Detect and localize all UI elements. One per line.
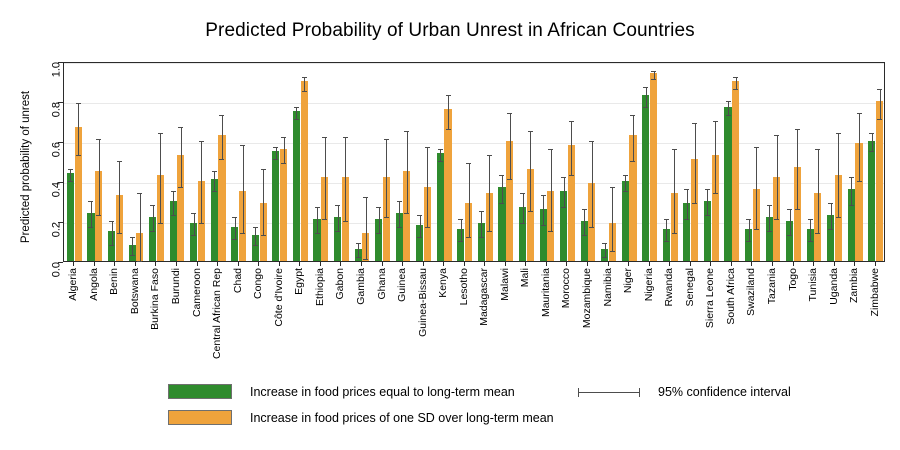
error-bar-cap-bottom	[836, 217, 841, 218]
error-bar-cap-bottom	[746, 241, 751, 242]
error-bar	[276, 147, 277, 159]
error-bar	[715, 121, 716, 193]
error-bar-cap-top	[774, 135, 779, 136]
error-bar-cap-bottom	[520, 223, 525, 224]
error-bar	[325, 137, 326, 219]
error-bar-cap-top	[191, 213, 196, 214]
error-bar-cap-bottom	[795, 209, 800, 210]
bar	[444, 109, 451, 261]
error-bar-cap-top	[88, 201, 93, 202]
gridline	[64, 103, 884, 104]
x-axis-tick	[772, 262, 773, 266]
bar-group	[252, 63, 267, 261]
error-bar	[831, 203, 832, 229]
x-axis-tick	[813, 262, 814, 266]
error-bar	[461, 219, 462, 241]
x-axis-tick	[525, 262, 526, 266]
bar-group	[170, 63, 185, 261]
error-bar-cap-top	[528, 131, 533, 132]
legend-label-ci: 95% confidence interval	[658, 385, 791, 399]
chart-figure: Predicted Probability of Urban Unrest in…	[0, 0, 900, 450]
error-bar	[181, 127, 182, 187]
gridline	[64, 183, 884, 184]
error-bar-cap-bottom	[726, 115, 731, 116]
error-bar-cap-bottom	[356, 257, 361, 258]
error-bar-cap-bottom	[767, 231, 772, 232]
legend-label-series-0: Increase in food prices equal to long-te…	[250, 385, 515, 399]
x-axis-tick	[834, 262, 835, 266]
bar-group	[375, 63, 390, 261]
error-bar-cap-bottom	[808, 241, 813, 242]
error-bar-cap-top	[569, 121, 574, 122]
error-bar	[810, 219, 811, 241]
x-axis-labels: AlgeriaAngolaBeninBotswanaBurkina FasoBu…	[63, 268, 885, 368]
bar	[724, 107, 731, 261]
error-bar	[510, 113, 511, 179]
x-axis-tick	[176, 262, 177, 266]
error-bar-cap-bottom	[466, 237, 471, 238]
error-bar-cap-top	[199, 141, 204, 142]
bar-group	[786, 63, 801, 261]
x-axis-tick	[382, 262, 383, 266]
error-bar	[654, 71, 655, 79]
bar-group	[149, 63, 164, 261]
error-bar-cap-top	[479, 211, 484, 212]
error-bar-cap-top	[356, 243, 361, 244]
error-bar	[523, 193, 524, 223]
error-bar-cap-bottom	[774, 219, 779, 220]
x-axis-tick-label: Madagascar	[478, 268, 490, 326]
x-axis-tick	[546, 262, 547, 266]
error-bar-cap-bottom	[117, 233, 122, 234]
error-bar-cap-top	[520, 193, 525, 194]
x-axis-tick-label: Algeria	[67, 268, 79, 301]
error-bar-cap-top	[294, 107, 299, 108]
error-bar	[338, 205, 339, 231]
error-bar	[222, 115, 223, 159]
bar	[876, 101, 883, 261]
error-bar-cap-top	[589, 141, 594, 142]
error-bar	[132, 237, 133, 255]
error-bar	[571, 121, 572, 175]
error-bar-cap-bottom	[232, 239, 237, 240]
error-bar-cap-bottom	[76, 155, 81, 156]
error-bar	[646, 87, 647, 107]
error-bar-cap-top	[623, 175, 628, 176]
error-bar	[481, 211, 482, 237]
error-bar-cap-bottom	[815, 233, 820, 234]
y-axis-tick-label: 0.4	[50, 182, 62, 197]
x-axis-tick	[135, 262, 136, 266]
error-bar	[173, 191, 174, 215]
error-bar-cap-top	[446, 95, 451, 96]
bar	[280, 149, 287, 261]
legend-label-series-1: Increase in food prices of one SD over l…	[250, 411, 554, 425]
error-bar	[818, 149, 819, 233]
error-bar-cap-bottom	[651, 79, 656, 80]
error-bar-cap-top	[240, 145, 245, 146]
x-axis-tick	[402, 262, 403, 266]
x-axis-tick-label: Côte d'Ivoire	[273, 268, 285, 327]
error-bar-cap-bottom	[273, 159, 278, 160]
error-bar-cap-bottom	[130, 255, 135, 256]
error-bar-cap-bottom	[664, 241, 669, 242]
error-bar-cap-top	[602, 243, 607, 244]
error-bar-cap-bottom	[219, 159, 224, 160]
error-bar-cap-bottom	[692, 203, 697, 204]
error-bar	[160, 133, 161, 223]
error-bar-cap-bottom	[425, 227, 430, 228]
bar-group	[704, 63, 719, 261]
x-axis-tick-label: Mozambique	[581, 268, 593, 328]
x-axis-tick-label: South Africa	[725, 268, 737, 325]
bar	[650, 73, 657, 261]
y-axis: 0.00.20.40.60.81.0	[0, 62, 63, 262]
x-axis-tick-label: Lesotho	[458, 268, 470, 305]
error-bar	[243, 145, 244, 233]
error-bar	[695, 123, 696, 203]
gridline	[64, 223, 884, 224]
confidence-interval-icon	[578, 386, 640, 398]
x-axis-tick	[258, 262, 259, 266]
error-bar-cap-bottom	[877, 119, 882, 120]
error-bar	[140, 193, 141, 261]
error-bar-cap-bottom	[281, 163, 286, 164]
x-axis-tick-label: Senegal	[684, 268, 696, 307]
error-bar-cap-top	[561, 177, 566, 178]
gridline	[64, 143, 884, 144]
bar-group	[416, 63, 431, 261]
error-bar	[530, 131, 531, 211]
x-axis-tick	[155, 262, 156, 266]
legend-entry-ci: 95% confidence interval	[578, 385, 791, 399]
x-axis-tick-label: Burundi	[170, 268, 182, 304]
error-bar-cap-top	[253, 227, 258, 228]
error-bar	[777, 135, 778, 219]
error-bar-cap-top	[363, 197, 368, 198]
error-bar-cap-top	[397, 201, 402, 202]
x-axis-tick	[731, 262, 732, 266]
bar	[293, 111, 300, 261]
bar-group	[498, 63, 513, 261]
error-bar	[112, 221, 113, 245]
error-bar-cap-top	[651, 71, 656, 72]
error-bar-cap-bottom	[684, 219, 689, 220]
error-bar-cap-bottom	[630, 161, 635, 162]
x-axis-tick-label: Egypt	[293, 268, 305, 295]
error-bar	[584, 209, 585, 235]
error-bar-cap-bottom	[446, 129, 451, 130]
error-bar-cap-top	[726, 101, 731, 102]
x-axis-tick	[751, 262, 752, 266]
x-axis-tick-label: Burkina Faso	[149, 268, 161, 330]
error-bar-cap-bottom	[733, 89, 738, 90]
x-axis-tick-label: Kenya	[437, 268, 449, 298]
error-bar-cap-top	[302, 77, 307, 78]
x-axis-tick-label: Mali	[519, 268, 531, 287]
x-axis-tick	[464, 262, 465, 266]
bar-group	[272, 63, 287, 261]
error-bar	[427, 147, 428, 227]
legend-entry-series-0: Increase in food prices equal to long-te…	[168, 384, 515, 399]
error-bar	[736, 77, 737, 89]
y-axis-tick-label: 1.0	[50, 62, 62, 77]
error-bar-cap-bottom	[261, 235, 266, 236]
error-bar-cap-bottom	[754, 229, 759, 230]
error-bar-cap-bottom	[582, 235, 587, 236]
bar-group	[293, 63, 308, 261]
error-bar-cap-top	[541, 195, 546, 196]
error-bar-cap-top	[869, 133, 874, 134]
error-bar	[838, 133, 839, 217]
bar-group	[622, 63, 637, 261]
error-bar	[153, 205, 154, 231]
error-bar-cap-bottom	[240, 233, 245, 234]
error-bar-cap-top	[836, 133, 841, 134]
error-bar-cap-bottom	[602, 257, 607, 258]
bar-group	[868, 63, 883, 261]
error-bar-cap-top	[68, 169, 73, 170]
error-bar	[551, 149, 552, 231]
error-bar-cap-top	[376, 207, 381, 208]
error-bar-cap-top	[507, 113, 512, 114]
error-bar-cap-top	[425, 147, 430, 148]
error-bar	[255, 227, 256, 245]
bar-group	[581, 63, 596, 261]
bar	[67, 173, 74, 261]
error-bar-cap-bottom	[438, 161, 443, 162]
error-bar	[502, 175, 503, 203]
error-bar	[284, 137, 285, 163]
error-bar-cap-bottom	[109, 245, 114, 246]
error-bar-cap-top	[158, 133, 163, 134]
bar-group	[129, 63, 144, 261]
error-bar-cap-bottom	[302, 91, 307, 92]
error-bar	[769, 205, 770, 231]
error-bar-cap-bottom	[417, 237, 422, 238]
error-bar	[625, 175, 626, 191]
x-axis-tick-label: Namibia	[602, 268, 614, 307]
error-bar-cap-bottom	[528, 211, 533, 212]
x-axis-tick	[608, 262, 609, 266]
x-axis-tick-label: Guinea	[396, 268, 408, 302]
error-bar-cap-top	[178, 127, 183, 128]
error-bar-cap-top	[343, 137, 348, 138]
x-axis-tick-label: Cameroon	[191, 268, 203, 317]
bar	[437, 153, 444, 261]
bar-group	[642, 63, 657, 261]
x-axis-tick	[197, 262, 198, 266]
error-bar-cap-top	[281, 137, 286, 138]
x-axis-tick-label: Gambia	[355, 268, 367, 305]
error-bar-cap-bottom	[96, 215, 101, 216]
bar-group	[478, 63, 493, 261]
error-bar	[440, 149, 441, 161]
error-bar-cap-top	[96, 139, 101, 140]
error-bar-cap-top	[487, 155, 492, 156]
x-axis-tick-label: Benin	[108, 268, 120, 295]
error-bar-cap-bottom	[171, 215, 176, 216]
error-bar-cap-top	[828, 203, 833, 204]
error-bar	[666, 219, 667, 241]
error-bar	[851, 177, 852, 205]
x-axis-tick-label: Niger	[622, 268, 634, 293]
bar-group	[108, 63, 123, 261]
legend-entry-series-1: Increase in food prices of one SD over l…	[168, 410, 554, 425]
error-bar-cap-bottom	[315, 233, 320, 234]
error-bar	[859, 113, 860, 181]
bar-group	[355, 63, 370, 261]
bar-group	[457, 63, 472, 261]
x-axis-tick	[793, 262, 794, 266]
error-bar-cap-top	[630, 115, 635, 116]
error-bar-cap-top	[849, 177, 854, 178]
error-bar-cap-bottom	[150, 231, 155, 232]
error-bar	[707, 189, 708, 215]
error-bar-cap-top	[458, 219, 463, 220]
error-bar-cap-top	[610, 187, 615, 188]
error-bar-cap-bottom	[191, 235, 196, 236]
x-axis-tick-label: Botswana	[129, 268, 141, 314]
bar-group	[396, 63, 411, 261]
x-axis-tick-label: Chad	[232, 268, 244, 293]
x-axis-tick-label: Zimbabwe	[869, 268, 881, 316]
x-axis-tick-label: Nigeria	[643, 268, 655, 301]
error-bar-cap-top	[808, 219, 813, 220]
bar	[732, 81, 739, 261]
error-bar-cap-top	[76, 103, 81, 104]
error-bar-cap-bottom	[343, 221, 348, 222]
x-axis-tick	[340, 262, 341, 266]
error-bar	[214, 171, 215, 191]
x-axis-tick-label: Congo	[252, 268, 264, 299]
error-bar	[880, 89, 881, 119]
error-bar-cap-top	[692, 123, 697, 124]
error-bar-cap-bottom	[561, 207, 566, 208]
error-bar	[790, 209, 791, 235]
error-bar-cap-bottom	[610, 251, 615, 252]
x-axis-tick	[217, 262, 218, 266]
error-bar-cap-top	[733, 77, 738, 78]
error-bar	[99, 139, 100, 215]
x-axis-tick	[710, 262, 711, 266]
error-bar	[386, 139, 387, 217]
error-bar	[407, 131, 408, 213]
error-bar-cap-top	[857, 113, 862, 114]
error-bar	[872, 133, 873, 151]
x-axis-tick-label: Swaziland	[745, 268, 757, 316]
bar	[642, 95, 649, 261]
error-bar-cap-bottom	[397, 227, 402, 228]
error-bar-cap-bottom	[68, 181, 73, 182]
bar-group	[87, 63, 102, 261]
error-bar-cap-top	[335, 205, 340, 206]
error-bar	[687, 189, 688, 219]
error-bar-cap-top	[232, 217, 237, 218]
error-bar-cap-bottom	[857, 181, 862, 182]
error-bar	[469, 163, 470, 237]
error-bar-cap-bottom	[363, 259, 368, 260]
error-bar-cap-top	[787, 209, 792, 210]
x-axis-tick	[566, 262, 567, 266]
error-bar	[366, 197, 367, 259]
error-bar-cap-bottom	[294, 119, 299, 120]
error-bar	[358, 243, 359, 257]
error-bar	[448, 95, 449, 129]
x-axis-tick-label: Gabon	[334, 268, 346, 300]
error-bar-cap-bottom	[479, 237, 484, 238]
x-axis-tick	[73, 262, 74, 266]
x-axis-tick-label: Mauritania	[540, 268, 552, 317]
x-axis-tick	[361, 262, 362, 266]
error-bar	[543, 195, 544, 225]
error-bar	[379, 207, 380, 233]
error-bar	[612, 187, 613, 251]
x-axis-tick	[505, 262, 506, 266]
bar-group	[724, 63, 739, 261]
bar-group	[827, 63, 842, 261]
error-bar-cap-bottom	[869, 151, 874, 152]
error-bar	[194, 213, 195, 235]
error-bar-cap-bottom	[623, 191, 628, 192]
error-bar-cap-top	[417, 215, 422, 216]
x-axis-tick-label: Zambia	[848, 268, 860, 303]
error-bar-cap-bottom	[212, 191, 217, 192]
error-bar-cap-top	[273, 147, 278, 148]
error-bar-cap-top	[672, 149, 677, 150]
error-bar	[633, 115, 634, 161]
y-axis-tick-label: 0.8	[50, 102, 62, 117]
error-bar	[489, 155, 490, 231]
error-bar-cap-bottom	[178, 187, 183, 188]
error-bar	[304, 77, 305, 91]
plot-area	[63, 62, 885, 262]
x-axis-tick	[669, 262, 670, 266]
x-axis-tick	[443, 262, 444, 266]
x-axis-tick	[299, 262, 300, 266]
x-axis-tick-label: Guinea-Bissau	[417, 268, 429, 337]
x-axis-tick	[114, 262, 115, 266]
error-bar-cap-top	[212, 171, 217, 172]
bar	[868, 141, 875, 261]
error-bar-cap-top	[150, 205, 155, 206]
error-bar-cap-bottom	[384, 217, 389, 218]
x-axis-tick-label: Sierra Leone	[704, 268, 716, 328]
error-bar	[119, 161, 120, 233]
x-axis-tick-label: Togo	[787, 268, 799, 291]
error-bar-cap-top	[322, 137, 327, 138]
bar-group	[663, 63, 678, 261]
error-bar-cap-top	[705, 189, 710, 190]
error-bar	[756, 147, 757, 229]
error-bar-cap-bottom	[849, 205, 854, 206]
bar-group	[766, 63, 781, 261]
x-axis-tick-label: Ethiopia	[314, 268, 326, 306]
error-bar-cap-bottom	[548, 231, 553, 232]
error-bar-cap-top	[795, 129, 800, 130]
error-bar-cap-bottom	[828, 229, 833, 230]
error-bar	[399, 201, 400, 227]
bar-group	[683, 63, 698, 261]
bar-group	[848, 63, 863, 261]
error-bar-cap-top	[754, 147, 759, 148]
bar	[622, 181, 629, 261]
x-axis-tick	[690, 262, 691, 266]
x-axis-tick	[94, 262, 95, 266]
error-bar-cap-top	[117, 161, 122, 162]
error-bar-cap-top	[261, 169, 266, 170]
error-bar-cap-top	[466, 163, 471, 164]
